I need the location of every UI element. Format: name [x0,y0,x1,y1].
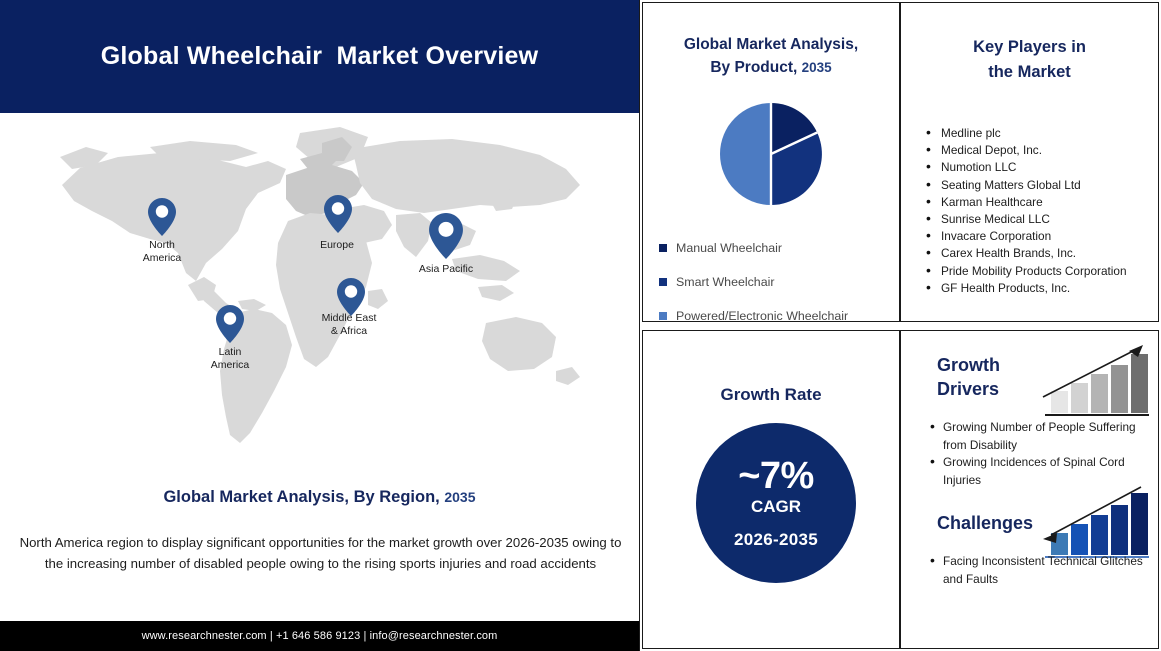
map-pin-middle-east-africa[interactable] [337,278,365,316]
page-title: Global Wheelchair Market Overview [101,42,539,71]
legend-label-manual: Manual Wheelchair [676,241,782,255]
list-item: GF Health Products, Inc. [939,280,1161,297]
map-label-asia-pacific: Asia Pacific [401,263,491,276]
legend-swatch-icon [659,312,667,320]
product-analysis-year: 2035 [802,60,832,75]
list-item: Growing Number of People Suffering from … [943,419,1153,454]
key-players-panel: Key Players in the Market Medline plc Me… [900,2,1159,322]
list-item: Pride Mobility Products Corporation [939,263,1161,280]
legend-swatch-icon [659,278,667,286]
map-label-north-america: North America [117,239,207,264]
map-label-europe: Europe [292,239,382,252]
cagr-label: CAGR [751,496,801,518]
list-item: Carex Health Brands, Inc. [939,245,1161,262]
product-pie-chart [643,101,899,207]
product-analysis-title-line2: By Product, 2035 [643,56,899,79]
list-item: Facing Inconsistent Technical Glitches a… [943,553,1153,588]
drivers-challenges-panel: Growth Drivers Growing Number of People … [900,330,1159,649]
list-item: Numotion LLC [939,159,1161,176]
pie-legend: Manual Wheelchair Smart Wheelchair Power… [659,231,899,333]
footer-contact-text: www.researchnester.com | +1 646 586 9123… [142,630,498,642]
list-item: Karman Healthcare [939,194,1161,211]
cagr-value: ~7% [738,457,814,495]
pie-chart-svg [718,101,824,207]
map-pin-europe[interactable] [324,195,352,233]
key-players-title-line1: Key Players in [901,35,1158,60]
list-item: Invacare Corporation [939,228,1161,245]
world-map-svg [0,113,639,483]
legend-item-smart: Smart Wheelchair [659,265,899,299]
footer-bar: www.researchnester.com | +1 646 586 9123… [0,621,639,651]
growth-rate-title: Growth Rate [643,383,899,406]
growth-drivers-bar-chart-icon [1037,339,1149,419]
list-item: Seating Matters Global Ltd [939,177,1161,194]
challenges-bar-chart-icon [1037,479,1149,561]
legend-item-manual: Manual Wheelchair [659,231,899,265]
challenges-heading: Challenges [937,511,1033,535]
legend-swatch-icon [659,244,667,252]
list-item: Sunrise Medical LLC [939,211,1161,228]
growth-rate-panel: Growth Rate ~7% CAGR 2026-2035 [642,330,900,649]
map-label-middle-east-africa: Middle East & Africa [304,312,394,337]
map-pin-north-america[interactable] [148,198,176,236]
left-panel: Global Wheelchair Market Overview [0,0,640,651]
map-pin-asia-pacific[interactable] [429,213,463,259]
legend-item-powered: Powered/Electronic Wheelchair [659,299,899,333]
list-item: Medline plc [939,125,1161,142]
growth-rate-circle: ~7% CAGR 2026-2035 [696,423,856,583]
challenges-list: Facing Inconsistent Technical Glitches a… [923,553,1153,588]
region-analysis-description: North America region to display signific… [18,532,623,574]
map-label-latin-america: Latin America [185,346,275,371]
key-players-list: Medline plc Medical Depot, Inc. Numotion… [919,125,1161,297]
list-item: Medical Depot, Inc. [939,142,1161,159]
product-analysis-panel: Global Market Analysis, By Product, 2035… [642,2,900,322]
legend-label-smart: Smart Wheelchair [676,275,774,289]
region-analysis-year: 2035 [444,489,475,505]
title-bar: Global Wheelchair Market Overview [0,0,639,113]
legend-label-powered: Powered/Electronic Wheelchair [676,309,848,323]
world-map: North America Europe Asia Pacific Middle… [0,113,639,483]
map-pin-latin-america[interactable] [216,305,244,343]
cagr-period: 2026-2035 [734,530,818,550]
region-analysis-heading-text: Global Market Analysis, By Region, [163,488,439,506]
product-analysis-title-line1: Global Market Analysis, [643,33,899,56]
product-analysis-title: Global Market Analysis, By Product, 2035 [643,33,899,79]
key-players-title: Key Players in the Market [901,35,1158,85]
key-players-title-line2: the Market [901,60,1158,85]
region-analysis-heading: Global Market Analysis, By Region, 2035 [0,488,639,507]
growth-drivers-heading: Growth Drivers [937,353,1000,401]
